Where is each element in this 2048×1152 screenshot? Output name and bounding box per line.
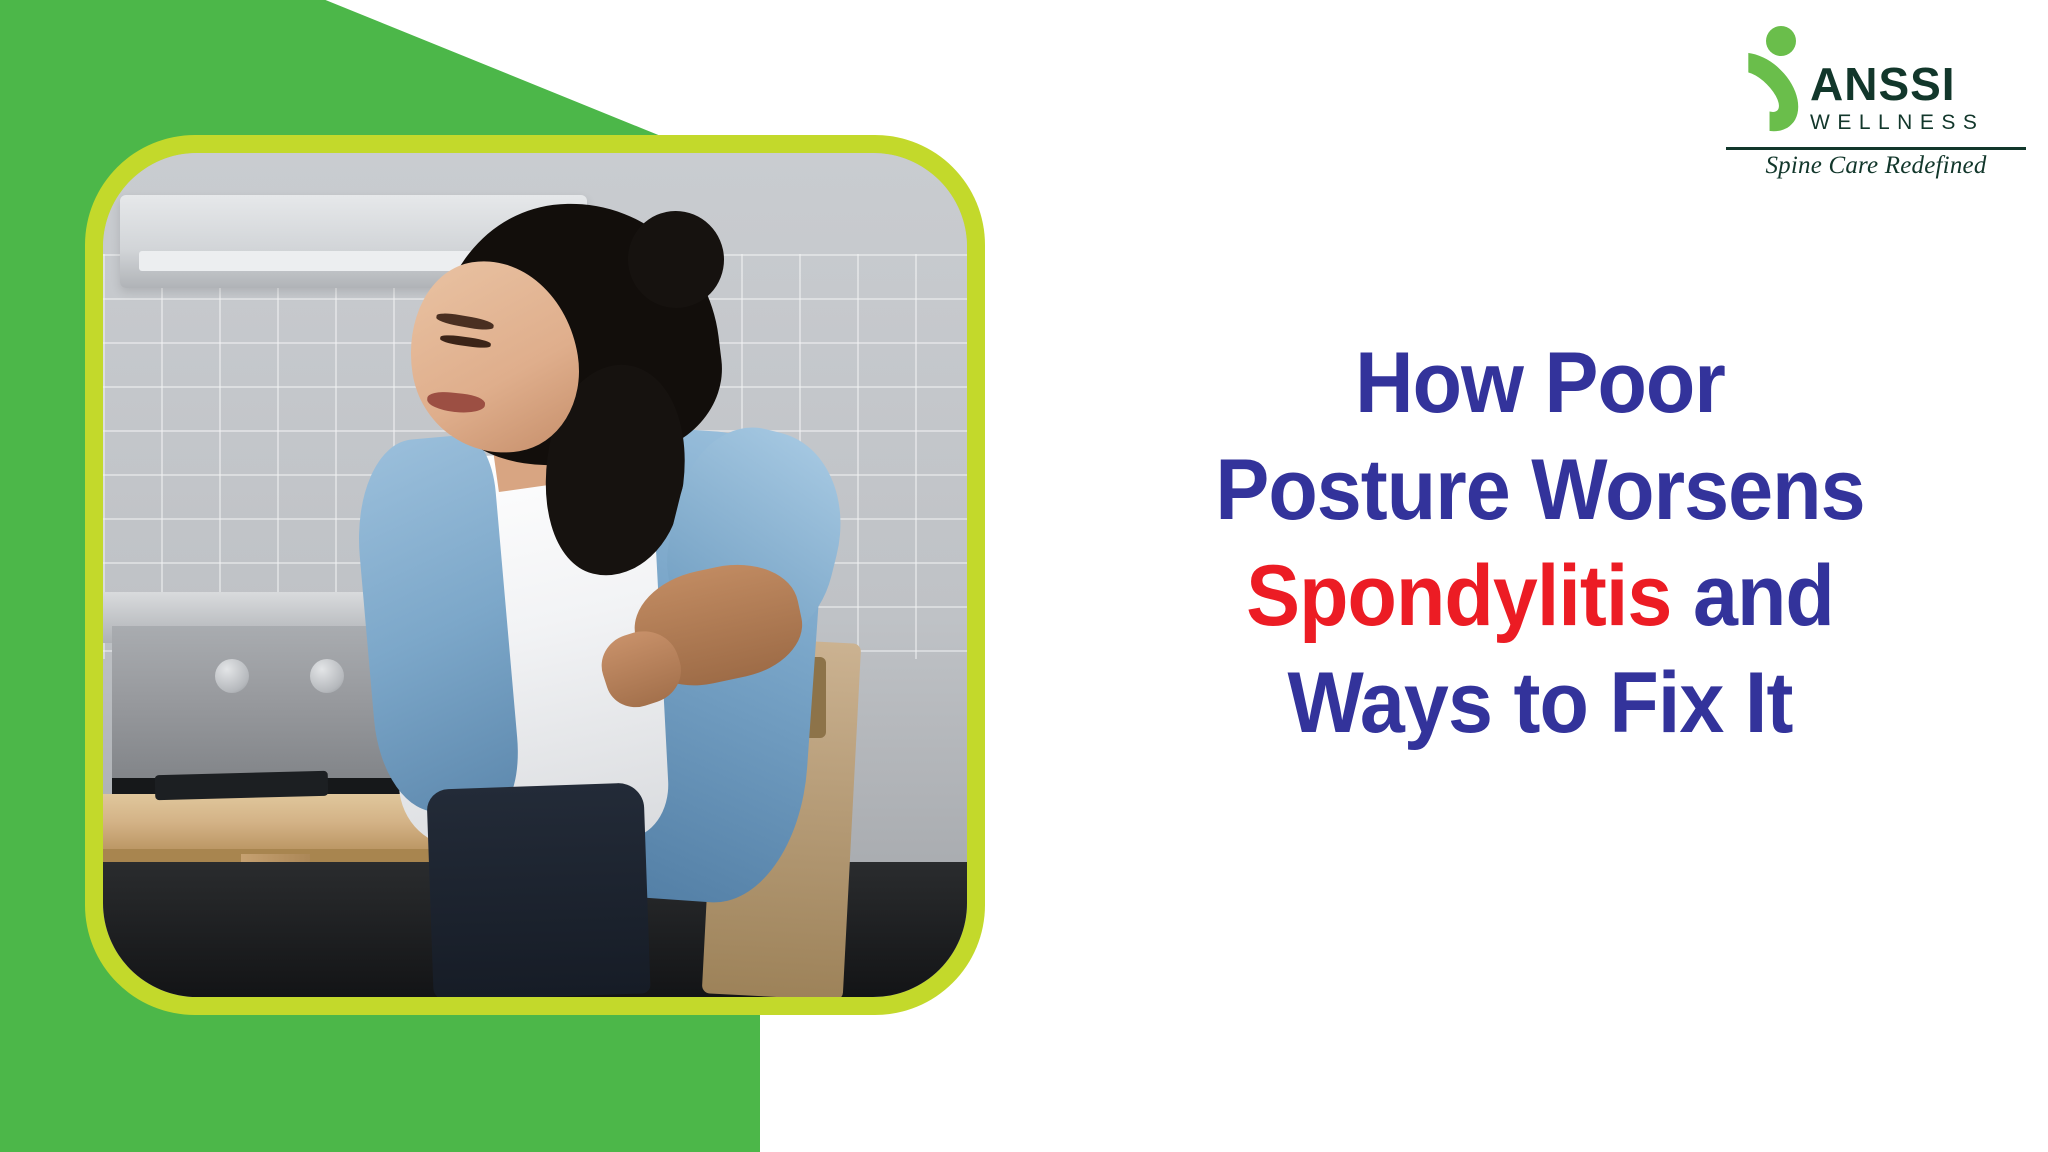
headline-line-4: Ways to Fix It — [1108, 650, 1973, 757]
headline-line-3-rest: and — [1671, 548, 1833, 644]
photo-jeans — [426, 783, 651, 997]
logo-arc-icon — [1705, 38, 1814, 147]
headline-highlight-spondylitis: Spondylitis — [1246, 548, 1671, 644]
headline-block: How Poor Posture Worsens Spondylitis and… — [1080, 330, 2000, 757]
logo-divider — [1726, 147, 2026, 150]
headline-line-2: Posture Worsens — [1108, 437, 1973, 544]
logo-wordmark: ANSSI WELLNESS — [1810, 61, 1984, 143]
logo-top-row: ANSSI WELLNESS — [1726, 24, 2026, 142]
banner-root: ANSSI WELLNESS Spine Care Redefined How … — [0, 0, 2048, 1152]
headline-line-3: Spondylitis and — [1108, 543, 1973, 650]
logo-brand-name: ANSSI — [1810, 61, 1984, 107]
photo-image — [103, 153, 967, 997]
photo-card — [85, 135, 985, 1015]
logo-dot-icon — [1766, 26, 1796, 56]
logo-tagline: Spine Care Redefined — [1726, 152, 2026, 180]
brand-logo[interactable]: ANSSI WELLNESS Spine Care Redefined — [1726, 24, 2026, 180]
logo-brand-sub: WELLNESS — [1810, 107, 1984, 139]
anssi-spine-mark-icon — [1726, 24, 1800, 142]
photo-woman-figure — [328, 187, 967, 997]
headline-line-1: How Poor — [1108, 330, 1973, 437]
photo-phone-on-table — [155, 771, 328, 801]
